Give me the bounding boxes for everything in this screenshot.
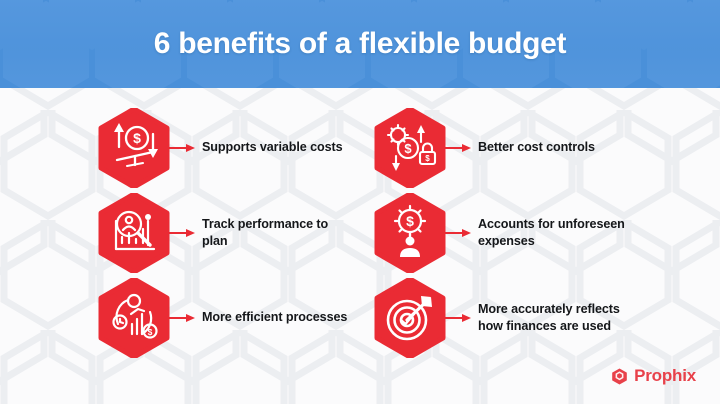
benefit-item[interactable]: Track performance to plan — [98, 190, 348, 276]
magnifier-bar-chart-icon — [98, 193, 170, 273]
infographic-slide: 6 benefits of a flexible budget — [0, 0, 720, 404]
benefit-item[interactable]: $ Accounts for unforeseen expenses — [374, 190, 644, 276]
hex-badge: $ — [98, 108, 170, 188]
svg-text:$: $ — [133, 130, 141, 146]
svg-text:$: $ — [406, 213, 414, 229]
arrow-connector-icon — [444, 227, 472, 239]
scale-dollar-arrows-icon: $ — [98, 108, 170, 188]
hex-badge: $ — [98, 278, 170, 358]
prophix-hexagon-mark-icon — [611, 368, 628, 385]
arrow-connector-icon — [168, 312, 196, 324]
hex-badge — [98, 193, 170, 273]
benefit-label: Better cost controls — [478, 139, 595, 156]
dollar-coin-person-icon: $ — [374, 193, 446, 273]
header-band: 6 benefits of a flexible budget — [0, 0, 720, 88]
svg-text:$: $ — [404, 141, 412, 156]
prophix-logo[interactable]: Prophix — [611, 366, 696, 386]
arrow-connector-icon — [444, 142, 472, 154]
hex-badge: $ $ — [374, 108, 446, 188]
prophix-logo-text: Prophix — [634, 366, 696, 386]
benefit-label: Track performance to plan — [202, 216, 348, 251]
benefits-grid: $ Supports variable costs — [0, 88, 720, 348]
benefit-label: Supports variable costs — [202, 139, 342, 156]
gear-clock-chart-dollar-icon: $ — [98, 278, 170, 358]
svg-text:$: $ — [148, 327, 153, 337]
svg-text:$: $ — [425, 154, 430, 163]
benefit-item[interactable]: $ $ Better cost controls — [374, 105, 644, 191]
benefit-item[interactable]: More accurately reflects how finances ar… — [374, 275, 644, 361]
target-dart-icon — [374, 278, 446, 358]
arrow-connector-icon — [168, 142, 196, 154]
hex-badge: $ — [374, 193, 446, 273]
benefit-label: More efficient processes — [202, 309, 347, 326]
gear-dollar-lock-icon: $ $ — [374, 108, 446, 188]
arrow-connector-icon — [444, 312, 472, 324]
benefit-item[interactable]: $ Supports variable costs — [98, 105, 348, 191]
arrow-connector-icon — [168, 227, 196, 239]
page-title: 6 benefits of a flexible budget — [0, 0, 720, 88]
benefit-label: More accurately reflects how finances ar… — [478, 301, 644, 336]
hex-badge — [374, 278, 446, 358]
benefit-item[interactable]: $ More efficient processes — [98, 275, 348, 361]
benefit-label: Accounts for unforeseen expenses — [478, 216, 644, 251]
